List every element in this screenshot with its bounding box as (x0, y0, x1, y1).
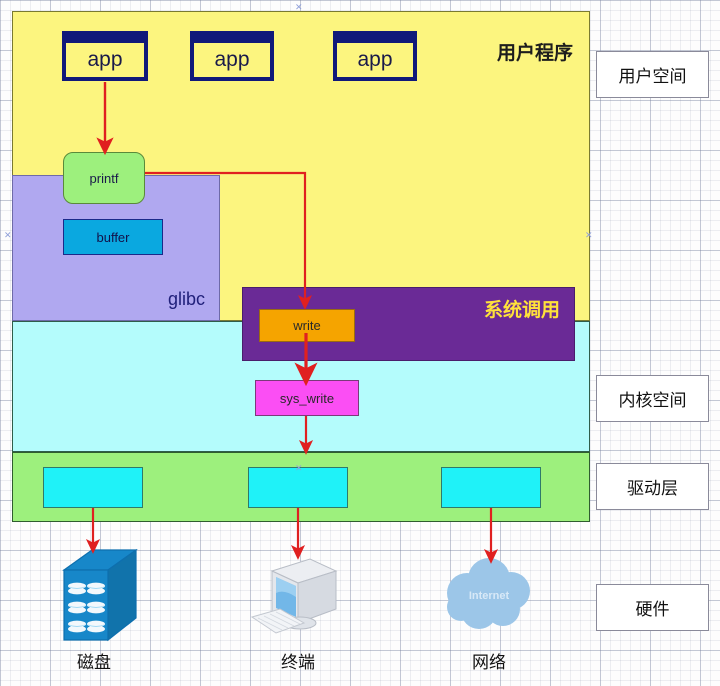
printf-node[interactable]: printf (63, 152, 145, 204)
write-node[interactable]: write (259, 309, 355, 342)
app-box-3[interactable]: app (333, 31, 417, 81)
legend-kernel-space-label: 内核空间 (619, 386, 687, 411)
legend-kernel-space[interactable]: 内核空间 (596, 375, 709, 422)
app-box-2-label: app (214, 48, 249, 72)
anchor-handle-right[interactable]: ✕ (585, 231, 593, 240)
driver-box-network[interactable] (441, 467, 541, 508)
app-box-1-label: app (87, 48, 122, 72)
buffer-node-label: buffer (96, 230, 129, 245)
cloud-icon-label: Internet (469, 590, 510, 602)
driver-box-terminal[interactable] (248, 467, 348, 508)
hardware-caption-network: 网络 (429, 648, 549, 673)
write-node-label: write (293, 318, 320, 333)
disk-icon (60, 546, 140, 649)
band-user-program-label: 用户程序 (497, 38, 573, 65)
printf-node-label: printf (90, 171, 119, 186)
sys-write-node-label: sys_write (280, 391, 334, 406)
buffer-node[interactable]: buffer (63, 219, 163, 255)
band-system-call-label: 系统调用 (484, 295, 560, 322)
terminal-icon (250, 553, 344, 650)
diagram-canvas: 用户程序 glibc 系统调用 app app app printf buffe… (0, 0, 720, 686)
sys-write-node[interactable]: sys_write (255, 380, 359, 416)
legend-driver-layer[interactable]: 驱动层 (596, 463, 709, 510)
legend-driver-layer-label: 驱动层 (627, 474, 678, 499)
legend-user-space[interactable]: 用户空间 (596, 51, 709, 98)
hardware-caption-disk: 磁盘 (34, 648, 154, 673)
app-box-3-label: app (357, 48, 392, 72)
legend-user-space-label: 用户空间 (619, 62, 687, 87)
cloud-icon: Internet (437, 557, 541, 640)
app-box-1[interactable]: app (62, 31, 148, 81)
app-box-2[interactable]: app (190, 31, 274, 81)
anchor-handle-top[interactable]: ✕ (295, 3, 303, 12)
anchor-handle-driver[interactable]: ✕ (295, 464, 303, 473)
anchor-handle-left[interactable]: ✕ (4, 231, 12, 240)
hardware-caption-terminal: 终端 (238, 648, 358, 673)
legend-hardware-label: 硬件 (636, 595, 670, 620)
driver-box-disk[interactable] (43, 467, 143, 508)
legend-hardware[interactable]: 硬件 (596, 584, 709, 631)
band-glibc-label: glibc (168, 289, 205, 310)
